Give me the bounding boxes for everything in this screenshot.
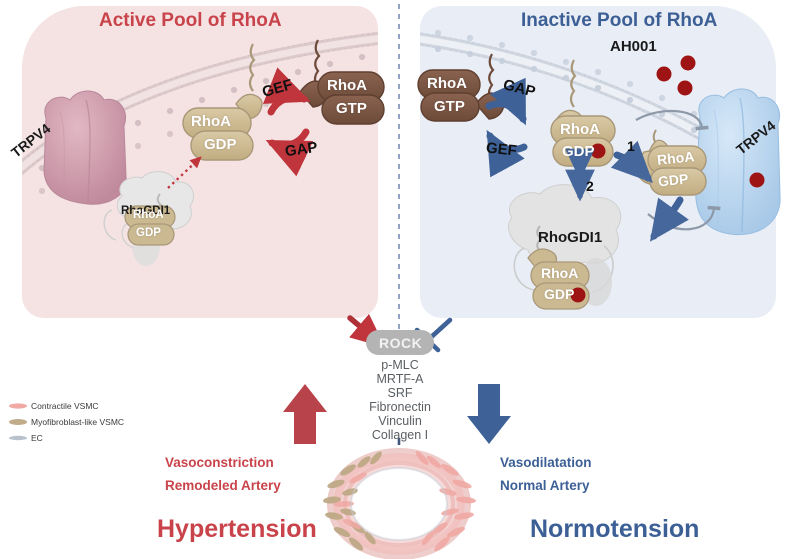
effector-item: MRTF-A: [330, 372, 470, 386]
legend-swatch-ec: [9, 436, 27, 440]
gdp-label-left: GDP: [204, 136, 237, 153]
gdp-label-channel: GDP: [657, 170, 689, 189]
effector-item: SRF: [330, 386, 470, 400]
rhoa-label-right-gdp: RhoA: [560, 121, 600, 138]
legend-label-ec: EC: [31, 433, 43, 443]
right-panel-title: Inactive Pool of RhoA: [521, 10, 717, 32]
normotension-line-1: Vasodilatation: [500, 455, 592, 470]
gdp-label-gdi-left: GDP: [136, 227, 161, 239]
step-label-2: 2: [586, 178, 594, 194]
rhoa-label-left-gdp: RhoA: [191, 113, 231, 130]
normotension-headline: Normotension: [530, 515, 699, 544]
ah001-label: AH001: [610, 38, 657, 55]
rock-label: ROCK: [379, 335, 422, 351]
effector-item: p-MLC: [330, 358, 470, 372]
artery-cross-sections: [323, 448, 477, 559]
calcium-dot: [750, 173, 765, 188]
effector-list: p-MLC MRTF-A SRF Fibronectin Vinculin Co…: [330, 358, 470, 442]
legend-swatch-myofibroblast: [9, 419, 27, 425]
effector-item: Vinculin: [330, 414, 470, 428]
hypertension-up-arrow: [283, 384, 327, 444]
effector-item: Fibronectin: [330, 400, 470, 414]
legend-swatch-contractile: [9, 403, 27, 408]
hypertension-line-1: Vasoconstriction: [165, 455, 274, 470]
normotension-line-2: Normal Artery: [500, 478, 590, 493]
gtp-label-right: GTP: [434, 98, 465, 115]
effector-item: Collagen I: [330, 428, 470, 442]
legend-label-contractile: Contractile VSMC: [31, 401, 99, 411]
legend-label-myofibroblast: Myofibroblast-like VSMC: [31, 417, 124, 427]
diagram-artwork: [0, 0, 798, 559]
trpv4-channel-left: [44, 91, 126, 204]
gtp-label-left: GTP: [336, 100, 367, 117]
hypertension-headline: Hypertension: [157, 515, 317, 544]
gdp-label-gdi-right: GDP: [544, 286, 574, 302]
rhoa-label-left-gtp: RhoA: [327, 77, 367, 94]
legend-swatches: [9, 403, 27, 440]
hypertension-line-2: Remodeled Artery: [165, 478, 281, 493]
rhoa-label-gdi-left: RhoA: [133, 209, 164, 221]
rhogdi1-label-right: RhoGDI1: [538, 229, 602, 246]
trpv4-channel-right: [696, 89, 780, 235]
gef-label-right: GEF: [485, 139, 517, 159]
rhoa-label-gdi-right: RhoA: [541, 265, 578, 281]
gdp-label-right: GDP: [562, 143, 595, 160]
step-label-1: 1: [627, 138, 635, 154]
rhoa-label-right-gtp: RhoA: [427, 75, 467, 92]
left-panel-title: Active Pool of RhoA: [99, 10, 282, 32]
figure-canvas: Active Pool of RhoA Inactive Pool of Rho…: [0, 0, 798, 559]
normotension-down-arrow: [467, 384, 511, 444]
